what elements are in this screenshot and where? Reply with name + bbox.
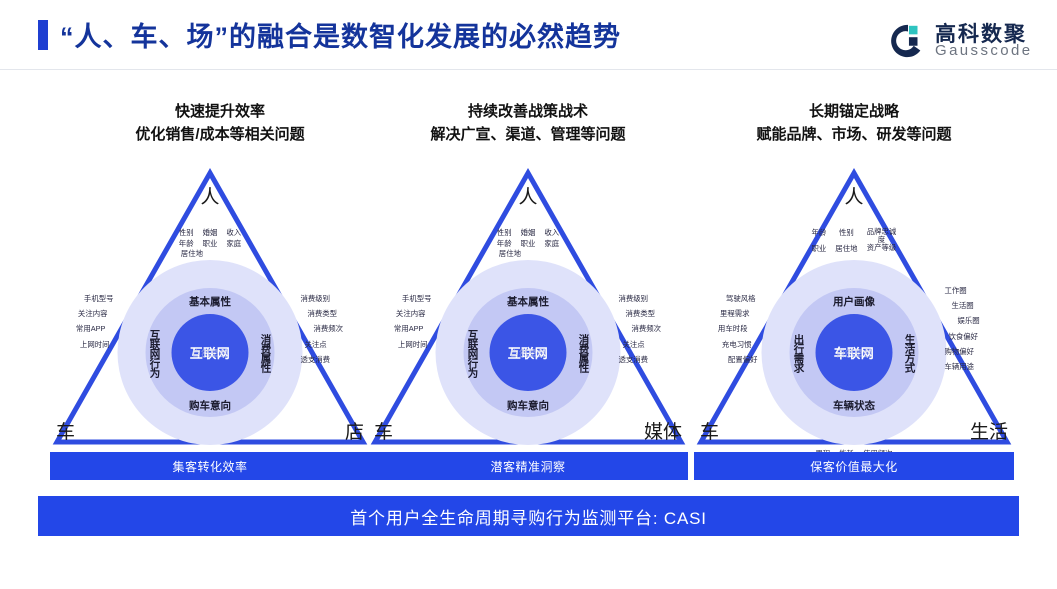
ring-left-label-3: 出行需求 xyxy=(792,334,807,372)
sat-top-3-0: 年龄 xyxy=(812,228,827,244)
triangle-3-apex-label: 人 xyxy=(844,182,863,209)
concentric-rings-2: 互联网 自然垦合 基本属性 购车意向 互联网行为 消费属性 性别 婚姻 收入 年… xyxy=(436,260,621,445)
column-heading-2-line2: 解决广宣、渠道、管理等问题 xyxy=(368,123,688,146)
header-divider xyxy=(0,69,1057,70)
sat-top-2-4: 职业 xyxy=(521,239,536,250)
ring-top-label-2: 基本属性 xyxy=(507,294,549,309)
satellite-top-3: 年龄 性别 品牌忠诚度 职业 居住地 资产等级 xyxy=(812,228,897,255)
sat-top-2-6: 居住地 xyxy=(497,249,559,260)
gausscode-logo-icon xyxy=(889,22,927,60)
ring-right-label-3: 生活方式 xyxy=(903,334,918,372)
concentric-rings-1: 互联网 自然垦合 基本属性 购车意向 互联网行为 消费属性 性别 婚姻 收入 年… xyxy=(118,260,303,445)
ring-left-label-1: 互联网行为 xyxy=(148,329,163,377)
slide-header: “人、车、场”的融合是数智化发展的必然趋势 高科数聚 Gausscode xyxy=(0,0,1057,70)
sat-right-1-2: 消费频次 xyxy=(314,324,344,335)
triangle-panel-2: 人 车 媒体 互联网 自然垦合 基本属性 购车意向 互联网行为 消费属性 性别 … xyxy=(368,165,688,450)
brand-logo: 高科数聚 Gausscode xyxy=(889,18,1039,66)
sat-right-2-3: 关注点 xyxy=(623,340,662,351)
sat-left-3-1: 里程需求 xyxy=(720,309,758,320)
caption-bar-1: 集客转化效率 xyxy=(50,452,370,480)
sat-left-3-3: 充电习惯 xyxy=(722,340,758,351)
satellite-left-2: 手机型号 关注内容 常用APP 上网时间 xyxy=(394,294,432,355)
column-heading-3-line1: 长期锚定战略 xyxy=(694,100,1014,123)
sat-left-3-0: 驾驶风格 xyxy=(726,294,758,305)
sat-right-2-4: 透支消费 xyxy=(619,355,662,366)
sat-right-3-4: 购物偏好 xyxy=(945,347,980,358)
sat-top-1-3: 年龄 xyxy=(179,239,194,250)
ring-top-label-1: 基本属性 xyxy=(189,294,231,309)
sat-right-1-4: 透支消费 xyxy=(301,355,344,366)
column-heading-1-line2: 优化销售/成本等相关问题 xyxy=(60,123,380,146)
column-heading-3-line2: 赋能品牌、市场、研发等问题 xyxy=(694,123,1014,146)
watermark-1: 自然垦合 xyxy=(192,346,228,359)
triangle-2-bottom-left-label: 车 xyxy=(374,417,393,444)
triangle-1-apex-label: 人 xyxy=(200,182,219,209)
sat-right-1-3: 关注点 xyxy=(305,340,344,351)
triangle-3-bottom-right-label: 生活 xyxy=(970,417,1008,444)
sat-top-1-6: 居住地 xyxy=(179,249,241,260)
sat-right-2-2: 消费频次 xyxy=(632,324,662,335)
sat-top-2-3: 年龄 xyxy=(497,239,512,250)
sat-top-3-3: 职业 xyxy=(812,244,827,255)
ring-bottom-label-1: 购车意向 xyxy=(189,398,231,413)
concentric-rings-3: 车联网 自然垦合 用户画像 车辆状态 出行需求 生活方式 年龄 性别 品牌忠诚度… xyxy=(762,260,947,445)
caption-bar-3: 保客价值最大化 xyxy=(694,452,1014,480)
satellite-right-1: 消费级别 消费类型 消费频次 关注点 透支消费 xyxy=(301,294,344,370)
ring-bottom-label-3: 车辆状态 xyxy=(833,398,875,413)
sat-top-3-2: 品牌忠诚度 xyxy=(866,228,896,244)
sat-top-1-4: 职业 xyxy=(203,239,218,250)
satellite-top-2: 性别 婚姻 收入 年龄 职业 家庭 居住地 xyxy=(497,228,559,260)
sat-right-3-1: 生活圈 xyxy=(952,301,980,312)
sat-right-3-5: 车辆用途 xyxy=(945,362,980,373)
sat-top-2-0: 性别 xyxy=(497,228,512,239)
column-heading-1-line1: 快速提升效率 xyxy=(60,100,380,123)
page-title: “人、车、场”的融合是数智化发展的必然趋势 xyxy=(60,15,621,54)
satellite-left-1: 手机型号 关注内容 常用APP 上网时间 xyxy=(76,294,114,355)
footer-banner: 首个用户全生命周期寻购行为监测平台: CASI xyxy=(38,496,1019,536)
sat-left-2-2: 常用APP xyxy=(394,324,432,335)
sat-left-2-1: 关注内容 xyxy=(396,309,432,320)
title-accent-bar xyxy=(38,20,48,50)
sat-top-3-4: 居住地 xyxy=(835,244,857,255)
sat-top-2-2: 收入 xyxy=(544,228,559,239)
triangle-1-bottom-left-label: 车 xyxy=(56,417,75,444)
sat-left-1-1: 关注内容 xyxy=(78,309,114,320)
sat-top-3-1: 性别 xyxy=(835,228,857,244)
sat-left-1-0: 手机型号 xyxy=(84,294,114,305)
sat-top-1-1: 婚姻 xyxy=(203,228,218,239)
sat-right-2-1: 消费类型 xyxy=(626,309,662,320)
watermark-2: 自然垦合 xyxy=(510,346,546,359)
triangle-2-apex-label: 人 xyxy=(518,182,537,209)
sat-right-1-1: 消费类型 xyxy=(308,309,344,320)
sat-top-1-0: 性别 xyxy=(179,228,194,239)
sat-right-3-2: 娱乐圈 xyxy=(958,316,980,327)
column-heading-2: 持续改善战策战术 解决广宣、渠道、管理等问题 xyxy=(368,100,688,147)
triangle-panel-3: 人 车 生活 车联网 自然垦合 用户画像 车辆状态 出行需求 生活方式 年龄 性… xyxy=(694,165,1014,450)
column-heading-1: 快速提升效率 优化销售/成本等相关问题 xyxy=(60,100,380,147)
triangle-2-bottom-right-label: 媒体 xyxy=(644,417,682,444)
sat-top-3-5: 资产等级 xyxy=(866,244,896,255)
ring-left-label-2: 互联网行为 xyxy=(466,329,481,377)
sat-right-3-3: 饮食偏好 xyxy=(949,332,980,343)
sat-top-1-2: 收入 xyxy=(226,228,241,239)
sat-left-1-3: 上网时间 xyxy=(80,340,114,351)
satellite-left-3: 驾驶风格 里程需求 用车时段 充电习惯 配置偏好 xyxy=(718,294,758,370)
triangle-1-bottom-right-label: 店 xyxy=(345,417,364,444)
sat-left-2-0: 手机型号 xyxy=(402,294,432,305)
sat-left-3-2: 用车时段 xyxy=(718,324,758,335)
ring-right-label-2: 消费属性 xyxy=(577,334,592,372)
triangle-3-bottom-left-label: 车 xyxy=(700,417,719,444)
ring-top-label-3: 用户画像 xyxy=(833,294,875,309)
satellite-top-1: 性别 婚姻 收入 年龄 职业 家庭 居住地 xyxy=(179,228,241,260)
sat-left-1-2: 常用APP xyxy=(76,324,114,335)
sat-right-1-0: 消费级别 xyxy=(301,294,344,305)
logo-text-en: Gausscode xyxy=(935,42,1032,59)
sat-top-2-5: 家庭 xyxy=(544,239,559,250)
sat-top-1-5: 家庭 xyxy=(226,239,241,250)
sat-left-3-4: 配置偏好 xyxy=(728,355,758,366)
satellite-right-3: 工作圈 生活圈 娱乐圈 饮食偏好 购物偏好 车辆用途 xyxy=(945,286,980,377)
sat-left-2-3: 上网时间 xyxy=(398,340,432,351)
column-heading-3: 长期锚定战略 赋能品牌、市场、研发等问题 xyxy=(694,100,1014,147)
sat-right-3-0: 工作圈 xyxy=(945,286,980,297)
ring-bottom-label-2: 购车意向 xyxy=(507,398,549,413)
watermark-3: 自然垦合 xyxy=(836,346,872,359)
sat-top-2-1: 婚姻 xyxy=(521,228,536,239)
sat-right-2-0: 消费级别 xyxy=(619,294,662,305)
caption-bar-2: 潜客精准洞察 xyxy=(368,452,688,480)
triangle-panel-1: 人 车 店 互联网 自然垦合 基本属性 购车意向 互联网行为 消费属性 性别 婚… xyxy=(50,165,370,450)
satellite-right-2: 消费级别 消费类型 消费频次 关注点 透支消费 xyxy=(619,294,662,370)
column-heading-2-line1: 持续改善战策战术 xyxy=(368,100,688,123)
ring-right-label-1: 消费属性 xyxy=(259,334,274,372)
